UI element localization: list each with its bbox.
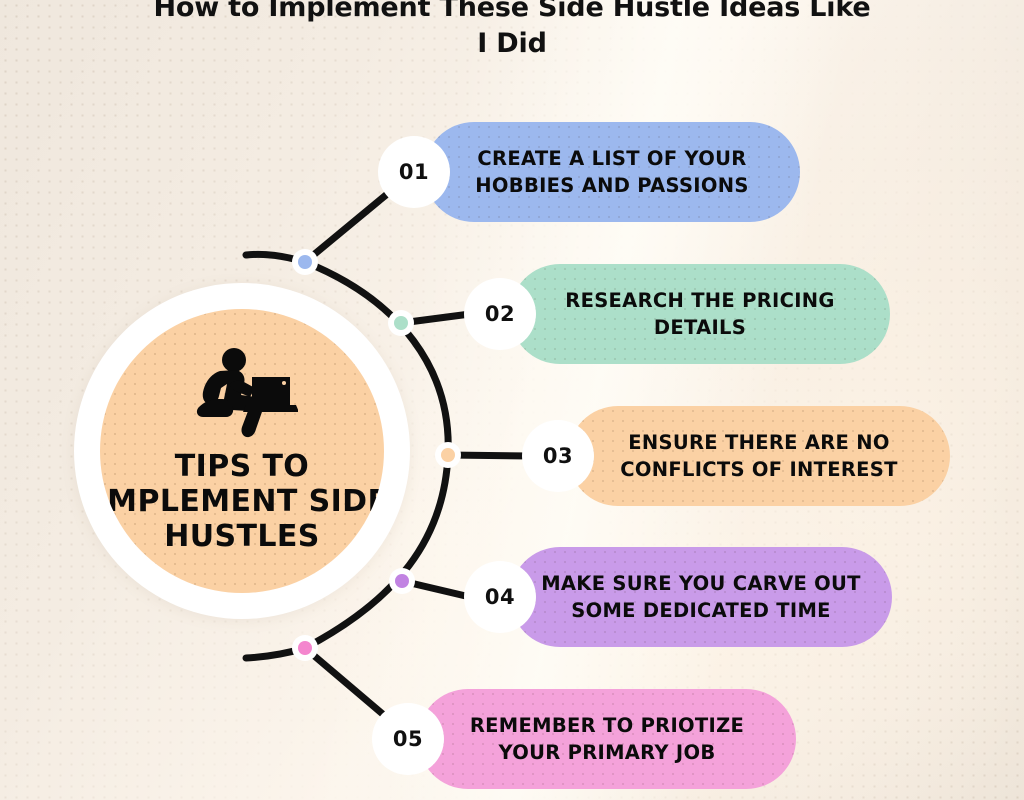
step-number-01: 01 (399, 160, 429, 184)
node-dot-05 (292, 635, 318, 661)
node-dot-01-fill (298, 255, 312, 269)
step-number-circle-02: 02 (464, 278, 536, 350)
step-pill-03[interactable]: ENSURE THERE ARE NO CONFLICTS OF INTERES… (568, 406, 950, 506)
center-hub-inner: TIPS TO IMPLEMENT SIDE HUSTLES (100, 309, 384, 593)
step-number-04: 04 (485, 585, 515, 609)
center-hub-label: TIPS TO IMPLEMENT SIDE HUSTLES (100, 449, 384, 554)
page-title-line-2: I Did (0, 26, 1024, 62)
step-number-circle-05: 05 (372, 703, 444, 775)
node-dot-03-fill (441, 448, 455, 462)
node-dot-04 (389, 568, 415, 594)
step-number-circle-03: 03 (522, 420, 594, 492)
step-label-05: REMEMBER TO PRIOTIZE YOUR PRIMARY JOB (418, 712, 796, 766)
person-running-with-laptop-icon (186, 347, 298, 439)
node-dot-05-fill (298, 641, 312, 655)
step-pill-01[interactable]: CREATE A LIST OF YOUR HOBBIES AND PASSIO… (424, 122, 800, 222)
step-label-02: RESEARCH THE PRICING DETAILS (510, 287, 890, 341)
step-number-03: 03 (543, 444, 573, 468)
page-title: How to Implement These Side Hustle Ideas… (0, 0, 1024, 62)
node-dot-01 (292, 249, 318, 275)
node-dot-03 (435, 442, 461, 468)
step-number-circle-01: 01 (378, 136, 450, 208)
page-title-line-1: How to Implement These Side Hustle Ideas… (0, 0, 1024, 26)
step-number-02: 02 (485, 302, 515, 326)
step-number-05: 05 (393, 727, 423, 751)
node-dot-04-fill (395, 574, 409, 588)
step-label-03: ENSURE THERE ARE NO CONFLICTS OF INTERES… (568, 429, 950, 483)
step-pill-02[interactable]: RESEARCH THE PRICING DETAILS (510, 264, 890, 364)
center-hub: TIPS TO IMPLEMENT SIDE HUSTLES (74, 283, 410, 619)
step-pill-05[interactable]: REMEMBER TO PRIOTIZE YOUR PRIMARY JOB (418, 689, 796, 789)
step-label-01: CREATE A LIST OF YOUR HOBBIES AND PASSIO… (424, 145, 800, 199)
step-number-circle-04: 04 (464, 561, 536, 633)
node-dot-02 (388, 310, 414, 336)
node-dot-02-fill (394, 316, 408, 330)
step-label-04: MAKE SURE YOU CARVE OUT SOME DEDICATED T… (510, 570, 892, 624)
step-pill-04[interactable]: MAKE SURE YOU CARVE OUT SOME DEDICATED T… (510, 547, 892, 647)
